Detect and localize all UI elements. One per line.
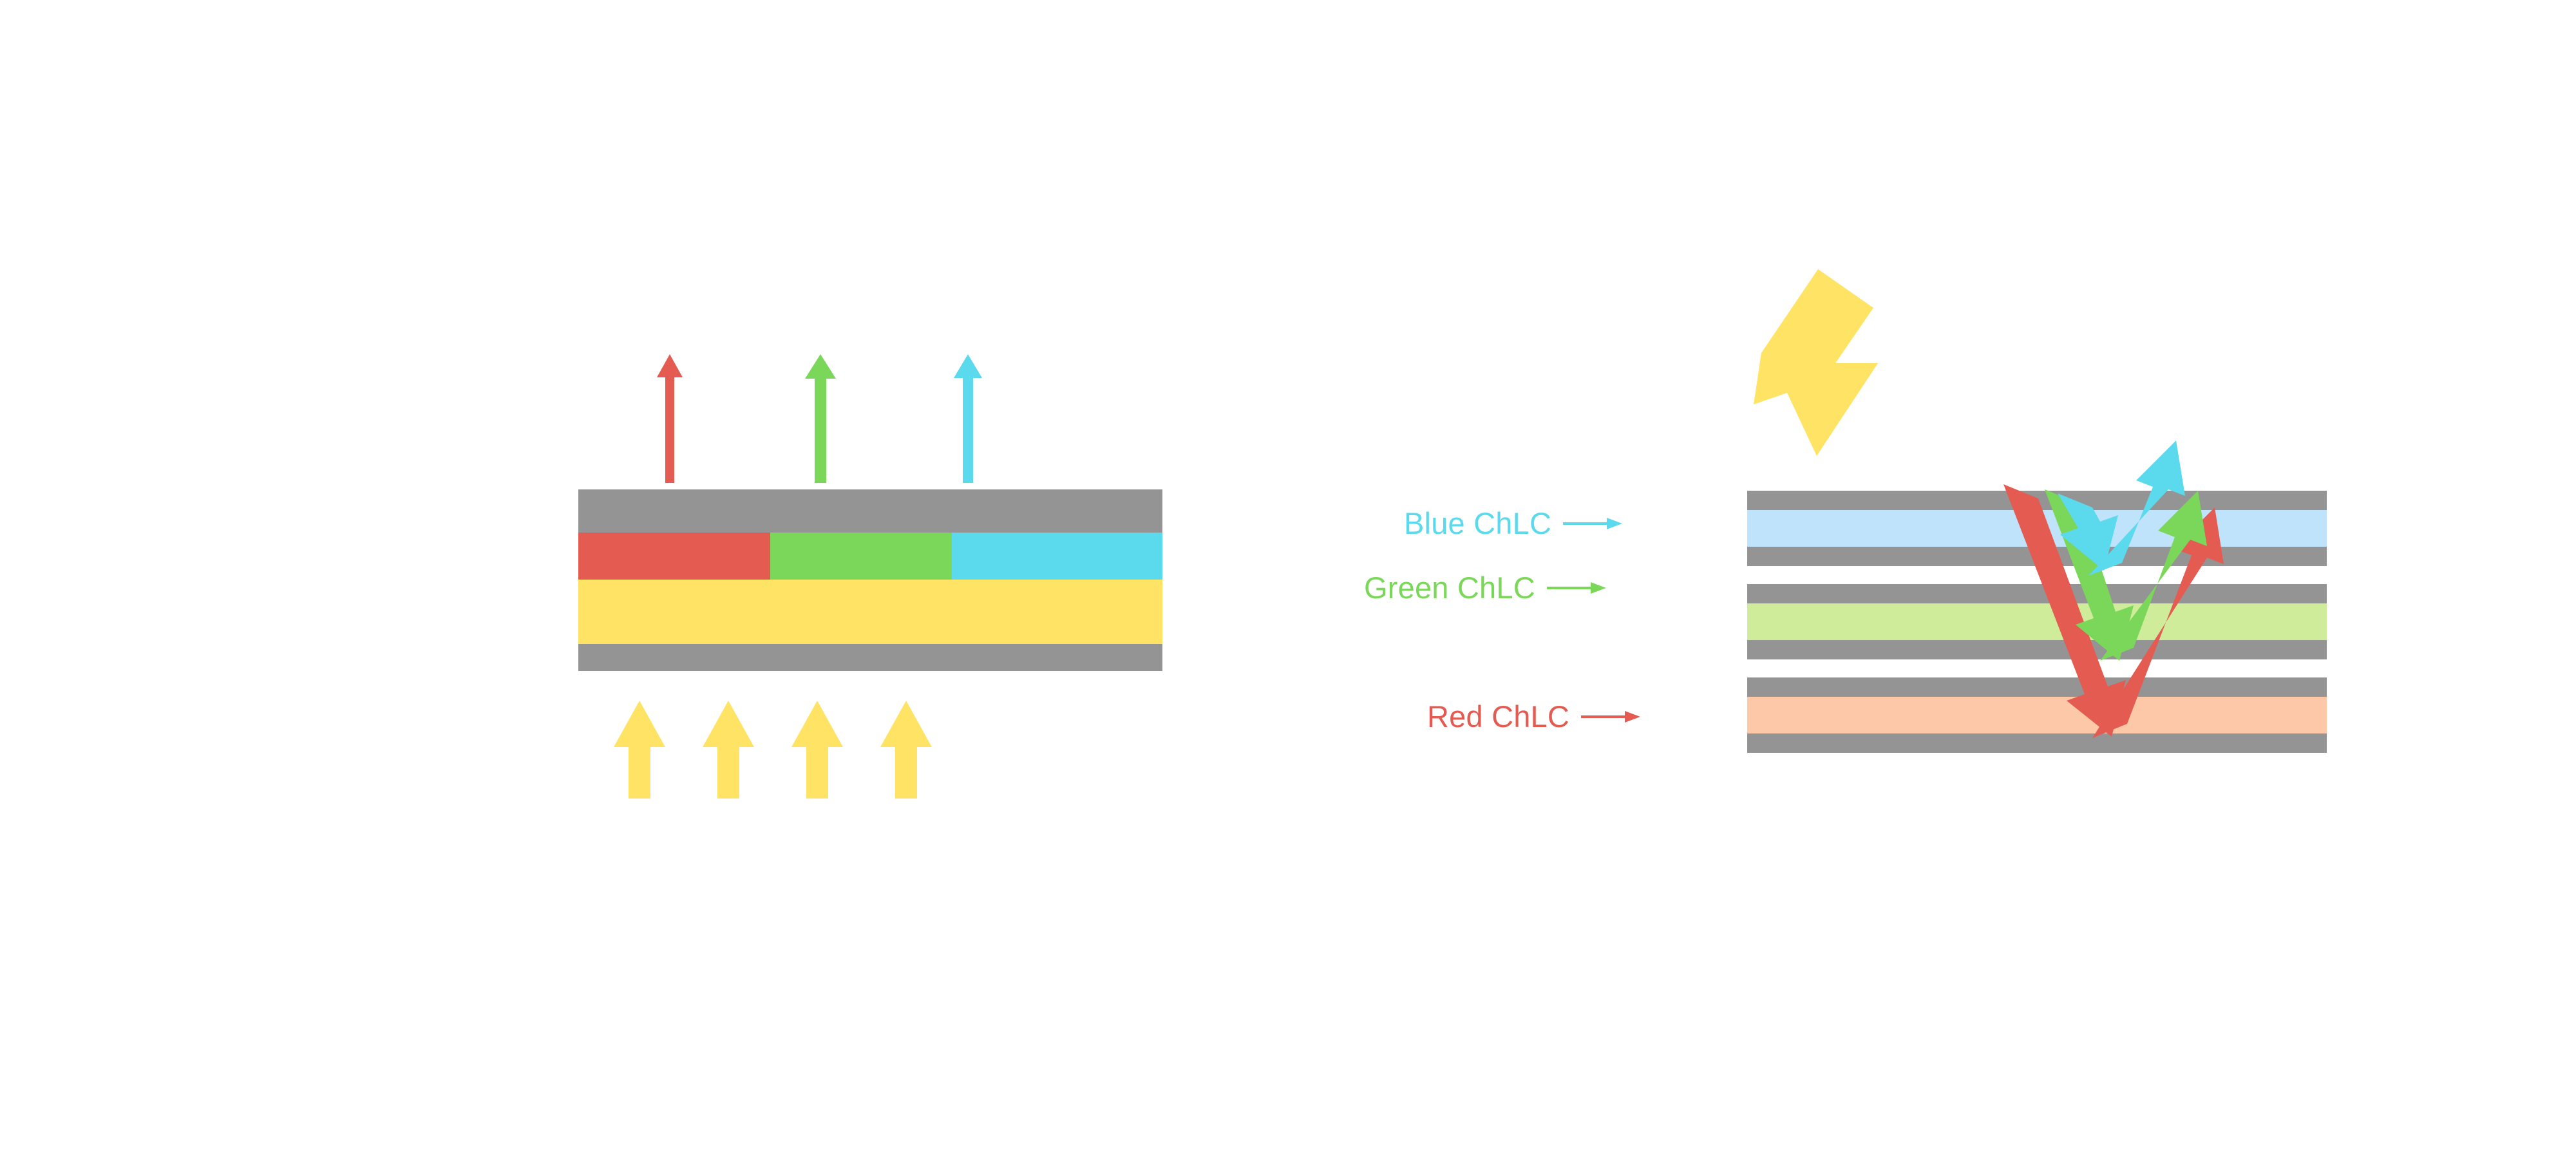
blue-cell-bottom-electrode: [1747, 547, 2327, 566]
green-label-arrow-icon: [1547, 578, 1606, 598]
backlight-layer: [578, 580, 1162, 644]
red-chlc-label: Red ChLC: [1427, 701, 1569, 732]
chlc-cell-stack: [1747, 491, 2327, 753]
left-layer-stack: [578, 489, 1162, 671]
cyan-emission-arrow: [954, 354, 982, 483]
blue-chlc-label-group: Blue ChLC: [1404, 508, 1622, 538]
blue-label-arrow-icon: [1563, 514, 1622, 533]
cyan-filter-segment: [952, 533, 1162, 580]
cell-gap-2: [1747, 659, 2327, 677]
red-chlc-cell: [1747, 677, 2327, 753]
red-cell-top-electrode: [1747, 677, 2327, 697]
red-cell-bottom-electrode: [1747, 733, 2327, 753]
blue-chlc-layer: [1747, 510, 2327, 547]
emissive-subpixel-stack: [578, 335, 1190, 824]
green-cell-top-electrode: [1747, 584, 2327, 603]
white-light-incident-arrow: [1754, 269, 1878, 456]
red-chlc-layer: [1747, 697, 2327, 733]
blue-chlc-label: Blue ChLC: [1404, 508, 1551, 538]
backlight-arrow-4: [880, 701, 932, 799]
green-chlc-label-group: Green ChLC: [1364, 572, 1606, 603]
backlight-arrow-3: [791, 701, 843, 799]
red-filter-segment: [578, 533, 770, 580]
diagram-canvas: Blue ChLC Green ChLC Red ChLC: [0, 0, 2576, 1154]
green-filter-segment: [770, 533, 952, 580]
red-chlc-label-group: Red ChLC: [1427, 701, 1640, 732]
red-emission-arrow: [657, 354, 683, 483]
blue-chlc-cell: [1747, 491, 2327, 566]
color-filter-row: [578, 533, 1162, 580]
green-chlc-cell: [1747, 584, 2327, 659]
green-chlc-layer: [1747, 603, 2327, 640]
reflective-chlc-stack: [1747, 277, 2391, 876]
backlight-arrow-1: [614, 701, 665, 799]
bottom-electrode-layer: [578, 644, 1162, 671]
backlight-arrow-2: [703, 701, 754, 799]
green-cell-bottom-electrode: [1747, 640, 2327, 659]
green-emission-arrow: [805, 354, 836, 483]
green-chlc-label: Green ChLC: [1364, 572, 1535, 603]
cell-gap-1: [1747, 566, 2327, 584]
red-label-arrow-icon: [1581, 707, 1640, 726]
blue-cell-top-electrode: [1747, 491, 2327, 510]
top-electrode-layer: [578, 489, 1162, 533]
